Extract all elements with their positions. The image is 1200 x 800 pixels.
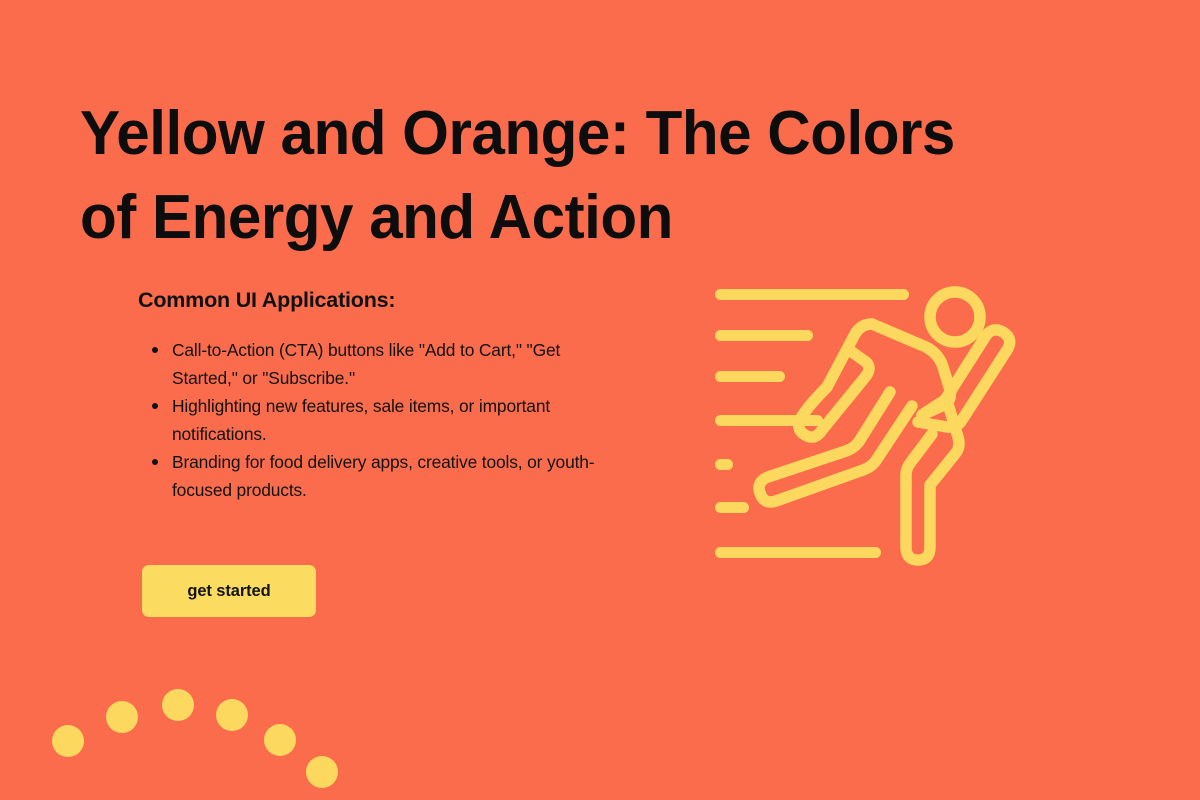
arc-dot: [264, 724, 296, 756]
bullet-point-icon: [152, 403, 158, 409]
section-subheading: Common UI Applications:: [138, 286, 608, 314]
runner-head: [930, 292, 980, 342]
get-started-button[interactable]: get started: [142, 565, 316, 617]
running-person-icon: [700, 272, 1050, 572]
arc-dot: [306, 756, 338, 788]
arc-dot: [106, 701, 138, 733]
list-item-label: Call-to-Action (CTA) buttons like "Add t…: [172, 340, 560, 388]
list-item-label: Highlighting new features, sale items, o…: [172, 396, 550, 444]
content-column: Common UI Applications: Call-to-Action (…: [138, 286, 608, 504]
list-item: Call-to-Action (CTA) buttons like "Add t…: [172, 336, 608, 392]
list-item-label: Branding for food delivery apps, creativ…: [172, 452, 594, 500]
bullet-point-icon: [152, 347, 158, 353]
dot-arc-decoration: [0, 660, 420, 800]
list-item: Branding for food delivery apps, creativ…: [172, 448, 608, 504]
running-person-illustration-svg: [700, 272, 1050, 572]
arc-dot: [52, 725, 84, 757]
arc-dot: [216, 699, 248, 731]
slide-canvas: Yellow and Orange: The Colors of Energy …: [0, 0, 1200, 800]
applications-bullet-list: Call-to-Action (CTA) buttons like "Add t…: [138, 336, 608, 504]
list-item: Highlighting new features, sale items, o…: [172, 392, 608, 448]
page-title: Yellow and Orange: The Colors of Energy …: [80, 92, 1011, 260]
bullet-point-icon: [152, 459, 158, 465]
arc-dot: [162, 689, 194, 721]
